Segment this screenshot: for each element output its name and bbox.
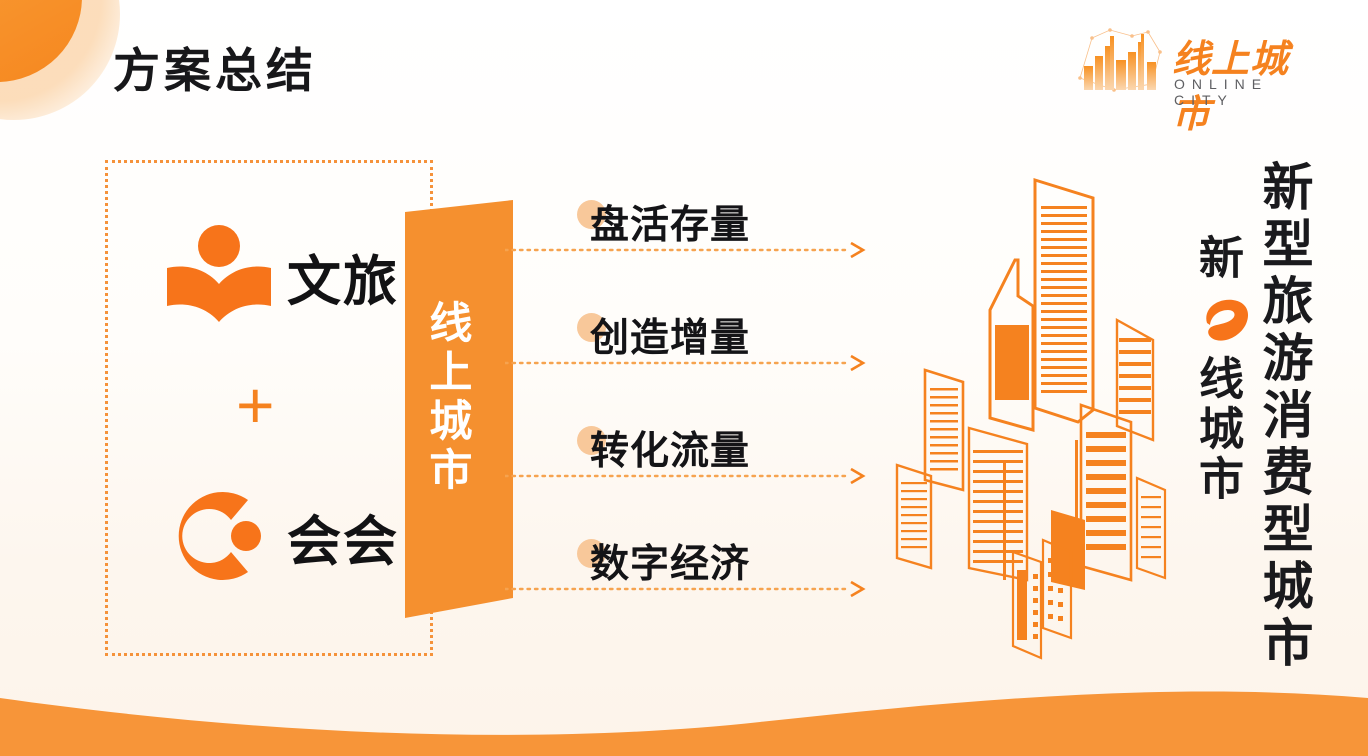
list-item: 文旅 (163, 222, 399, 330)
list-item: 创造增量 (505, 311, 875, 401)
c-ring-dot-icon (163, 482, 275, 590)
orange-e-glyph-icon (1197, 293, 1253, 349)
brand-logo: 线上城市 ONLINE CITY (1074, 18, 1320, 104)
open-book-person-icon (163, 222, 275, 330)
plus-connector: + (236, 372, 275, 438)
page-title: 方案总结 (113, 32, 317, 101)
list-item-label: 会会 (287, 497, 399, 576)
list-item: 会会 (163, 482, 399, 590)
dotted-arrow-right-icon (505, 355, 867, 371)
list-item: 盘活存量 (505, 198, 875, 288)
city-skyline-icon (1074, 22, 1166, 94)
headline-vertical-inner-top: 新 (1185, 234, 1250, 284)
list-item: 转化流量 (505, 424, 875, 514)
banner-label: 线上城市 (424, 300, 468, 496)
list-item-label: 文旅 (287, 237, 399, 316)
list-item: 数字经济 (505, 537, 875, 627)
dotted-arrow-right-icon (505, 242, 867, 258)
dotted-arrow-right-icon (505, 581, 867, 597)
headline-vertical-inner-bottom: 线城市 (1185, 355, 1250, 505)
bottom-wave-decoration (0, 636, 1368, 756)
brand-subtitle: ONLINE CITY (1174, 76, 1320, 108)
slide-canvas: 方案总结 (0, 0, 1368, 756)
dotted-arrow-right-icon (505, 468, 867, 484)
corner-quarter-circle-decoration (0, 0, 82, 82)
city-skyline-illustration (885, 160, 1185, 680)
headline-vertical-outer: 新型旅游消费型城市 (1246, 160, 1320, 673)
